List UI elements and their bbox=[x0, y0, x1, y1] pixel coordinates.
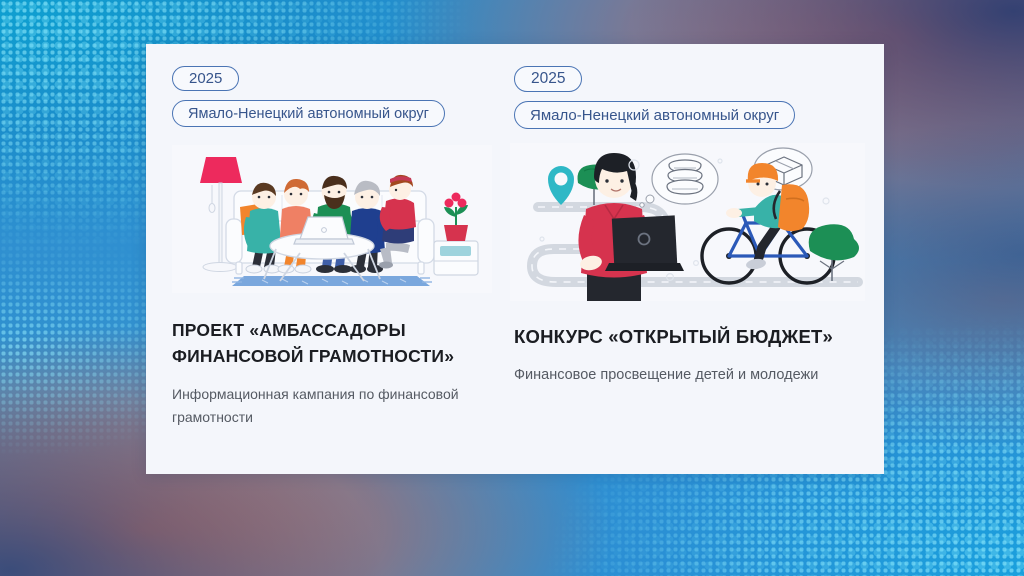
sofa-group-illustration bbox=[172, 145, 492, 293]
region-badge: Ямало-Ненецкий автономный округ bbox=[514, 101, 795, 129]
card-subtitle: Финансовое просвещение детей и молодежи bbox=[514, 364, 870, 387]
project-card[interactable]: 2025 Ямало-Ненецкий автономный округ bbox=[146, 44, 496, 474]
content-panel: 2025 Ямало-Ненецкий автономный округ bbox=[146, 44, 884, 474]
presentation-slide: 2025 Ямало-Ненецкий автономный округ bbox=[0, 0, 1024, 576]
card-title: ПРОЕКТ «АМБАССАДОРЫ ФИНАНСОВОЙ ГРАМОТНОС… bbox=[172, 317, 484, 369]
card-subtitle: Информационная кампания по финансовой гр… bbox=[172, 383, 484, 429]
year-badge: 2025 bbox=[172, 66, 239, 91]
region-badge: Ямало-Ненецкий автономный округ bbox=[172, 100, 445, 127]
card-text-block: ПРОЕКТ «АМБАССАДОРЫ ФИНАНСОВОЙ ГРАМОТНОС… bbox=[172, 317, 484, 429]
contest-card[interactable]: 2025 Ямало-Ненецкий автономный округ bbox=[496, 44, 884, 474]
card-title: КОНКУРС «ОТКРЫТЫЙ БЮДЖЕТ» bbox=[514, 323, 870, 350]
card-text-block: КОНКУРС «ОТКРЫТЫЙ БЮДЖЕТ» Финансовое про… bbox=[514, 323, 870, 387]
year-badge: 2025 bbox=[514, 66, 582, 92]
delivery-illustration bbox=[510, 143, 865, 301]
card-list: 2025 Ямало-Ненецкий автономный округ bbox=[146, 44, 884, 474]
